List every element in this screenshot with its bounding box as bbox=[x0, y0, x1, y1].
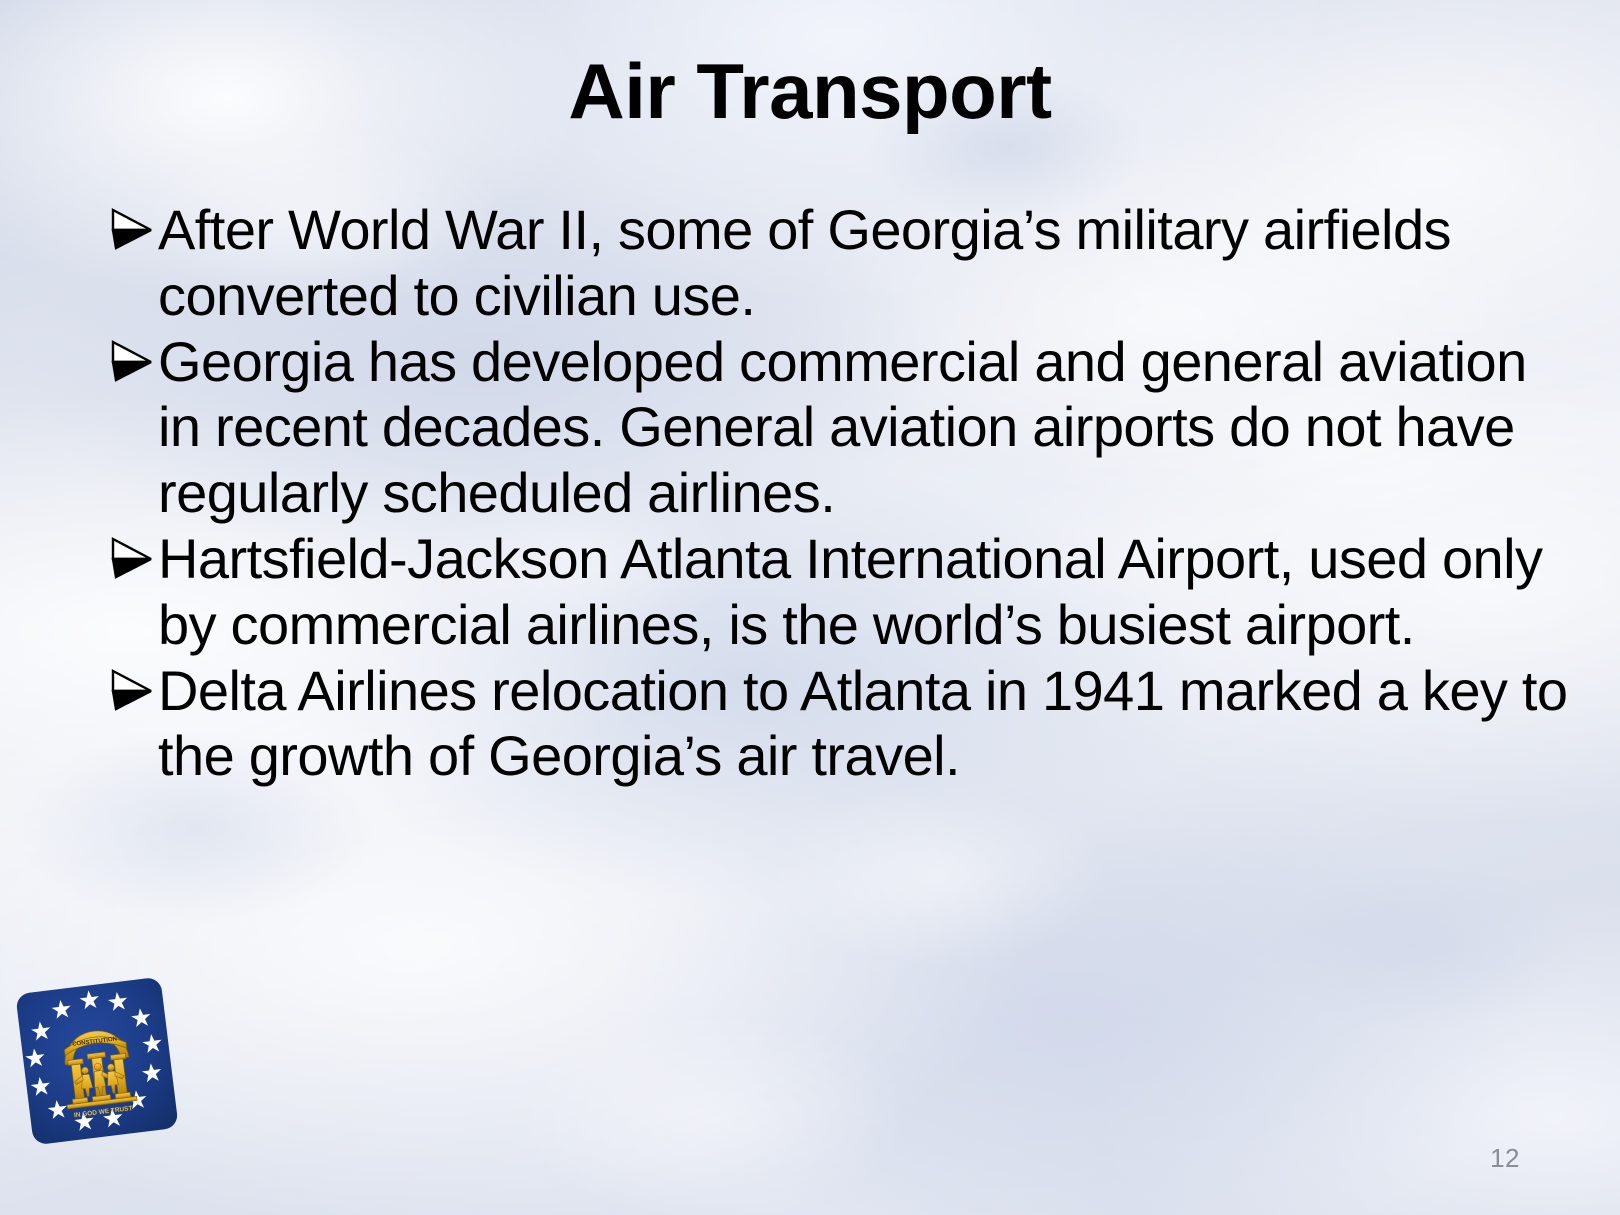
arrowhead-bullet-icon bbox=[104, 668, 158, 732]
arrowhead-bullet-icon bbox=[104, 536, 158, 600]
bullet-list: After World War II, some of Georgia’s mi… bbox=[104, 197, 1574, 789]
presentation-slide: Air Transport After World War II, some o… bbox=[0, 0, 1620, 1215]
bullet-item-1: After World War II, some of Georgia’s mi… bbox=[104, 197, 1574, 329]
bullet-text: Georgia has developed commercial and gen… bbox=[158, 329, 1574, 526]
bullet-item-4: Delta Airlines relocation to Atlanta in … bbox=[104, 658, 1574, 790]
bullet-text: Delta Airlines relocation to Atlanta in … bbox=[158, 658, 1574, 790]
bullet-item-2: Georgia has developed commercial and gen… bbox=[104, 329, 1574, 526]
bullet-text: After World War II, some of Georgia’s mi… bbox=[158, 197, 1574, 329]
bullet-item-3: Hartsfield-Jackson Atlanta International… bbox=[104, 526, 1574, 658]
georgia-state-flag-image: CONSTITUTION IN GOD WE TRUST bbox=[13, 974, 181, 1147]
bullet-text: Hartsfield-Jackson Atlanta International… bbox=[158, 526, 1574, 658]
arrowhead-bullet-icon bbox=[104, 207, 158, 271]
arrowhead-bullet-icon bbox=[104, 339, 158, 403]
slide-title: Air Transport bbox=[0, 52, 1620, 130]
slide-page-number: 12 bbox=[1490, 1143, 1520, 1174]
